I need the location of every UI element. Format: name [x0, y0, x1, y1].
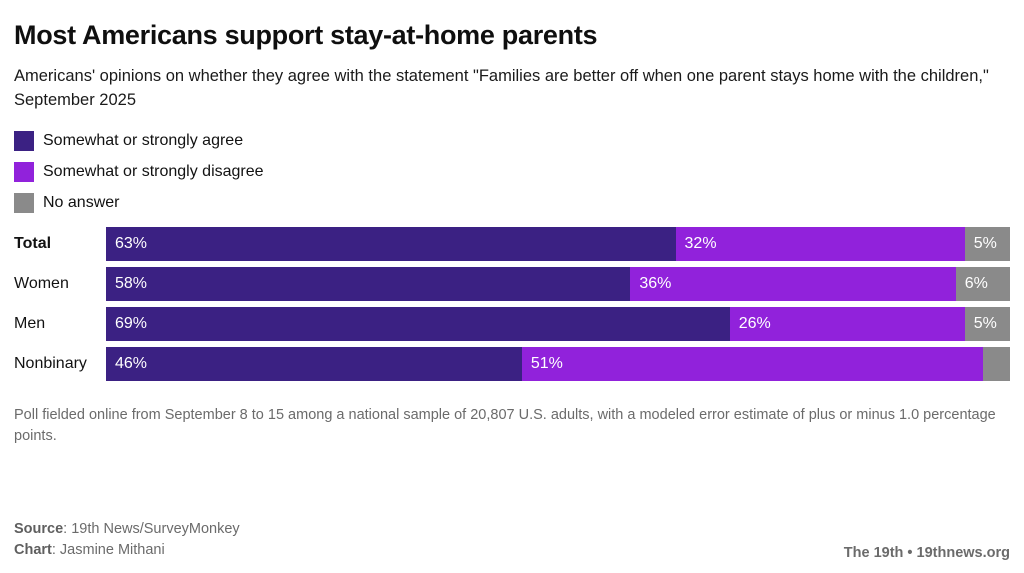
legend-item-label: Somewhat or strongly agree — [43, 133, 243, 149]
bar-segment-value: 32% — [676, 235, 717, 253]
bar-segment-value: 63% — [106, 235, 147, 253]
legend-item-label: No answer — [43, 195, 119, 211]
legend-item-label: Somewhat or strongly disagree — [43, 164, 264, 180]
bar-segment-value: 26% — [730, 315, 771, 333]
chart-credit-label: Chart — [14, 542, 52, 558]
bar-row: Total63%32%5% — [14, 227, 1010, 261]
source-label: Source — [14, 521, 63, 537]
credits: Source: 19th News/SurveyMonkey Chart: Ja… — [14, 519, 240, 561]
chart-legend: Somewhat or strongly agreeSomewhat or st… — [14, 130, 1010, 215]
bar-track: 58%36%6% — [106, 267, 1010, 301]
brand-attribution: The 19th • 19thnews.org — [844, 545, 1010, 561]
bar-segment[interactable] — [983, 347, 1010, 381]
methodology-note: Poll fielded online from September 8 to … — [14, 405, 1010, 447]
source-line: Source: 19th News/SurveyMonkey — [14, 519, 240, 540]
bar-segment-value: 46% — [106, 355, 147, 373]
bar-segment[interactable]: 63% — [106, 227, 676, 261]
bar-row-label: Men — [14, 315, 106, 333]
bar-row: Women58%36%6% — [14, 267, 1010, 301]
bar-segment[interactable]: 5% — [965, 227, 1010, 261]
stacked-bar-chart: Total63%32%5%Women58%36%6%Men69%26%5%Non… — [14, 227, 1010, 381]
bar-row: Men69%26%5% — [14, 307, 1010, 341]
bar-segment[interactable]: 46% — [106, 347, 522, 381]
chart-page: Most Americans support stay-at-home pare… — [0, 0, 1024, 573]
chart-credit-line: Chart: Jasmine Mithani — [14, 540, 240, 561]
bar-segment[interactable]: 32% — [676, 227, 965, 261]
chart-footer: Source: 19th News/SurveyMonkey Chart: Ja… — [14, 519, 1010, 561]
bar-segment-value: 36% — [630, 275, 671, 293]
legend-item[interactable]: Somewhat or strongly agree — [14, 130, 1010, 153]
source-value: : 19th News/SurveyMonkey — [63, 521, 240, 537]
legend-item[interactable]: No answer — [14, 192, 1010, 215]
legend-swatch-icon — [14, 193, 34, 213]
bar-track: 69%26%5% — [106, 307, 1010, 341]
bar-segment-value: 5% — [965, 235, 997, 253]
bar-segment[interactable]: 36% — [630, 267, 955, 301]
page-title: Most Americans support stay-at-home pare… — [14, 0, 1010, 51]
bar-row: Nonbinary46%51% — [14, 347, 1010, 381]
bar-track: 46%51% — [106, 347, 1010, 381]
chart-credit-value: : Jasmine Mithani — [52, 542, 165, 558]
bar-segment-value: 5% — [965, 315, 997, 333]
bar-segment[interactable]: 51% — [522, 347, 983, 381]
legend-item[interactable]: Somewhat or strongly disagree — [14, 161, 1010, 184]
legend-swatch-icon — [14, 131, 34, 151]
bar-row-label: Total — [14, 235, 106, 253]
bar-segment[interactable]: 26% — [730, 307, 965, 341]
bar-track: 63%32%5% — [106, 227, 1010, 261]
bar-segment[interactable]: 58% — [106, 267, 630, 301]
bar-segment-value: 58% — [106, 275, 147, 293]
page-subtitle: Americans' opinions on whether they agre… — [14, 51, 1010, 113]
bar-row-label: Nonbinary — [14, 355, 106, 373]
legend-swatch-icon — [14, 162, 34, 182]
bar-row-label: Women — [14, 275, 106, 293]
bar-segment[interactable]: 6% — [956, 267, 1010, 301]
bar-segment[interactable]: 69% — [106, 307, 730, 341]
bar-segment-value: 69% — [106, 315, 147, 333]
bar-segment[interactable]: 5% — [965, 307, 1010, 341]
bar-segment-value: 51% — [522, 355, 563, 373]
bar-segment-value: 6% — [956, 275, 988, 293]
